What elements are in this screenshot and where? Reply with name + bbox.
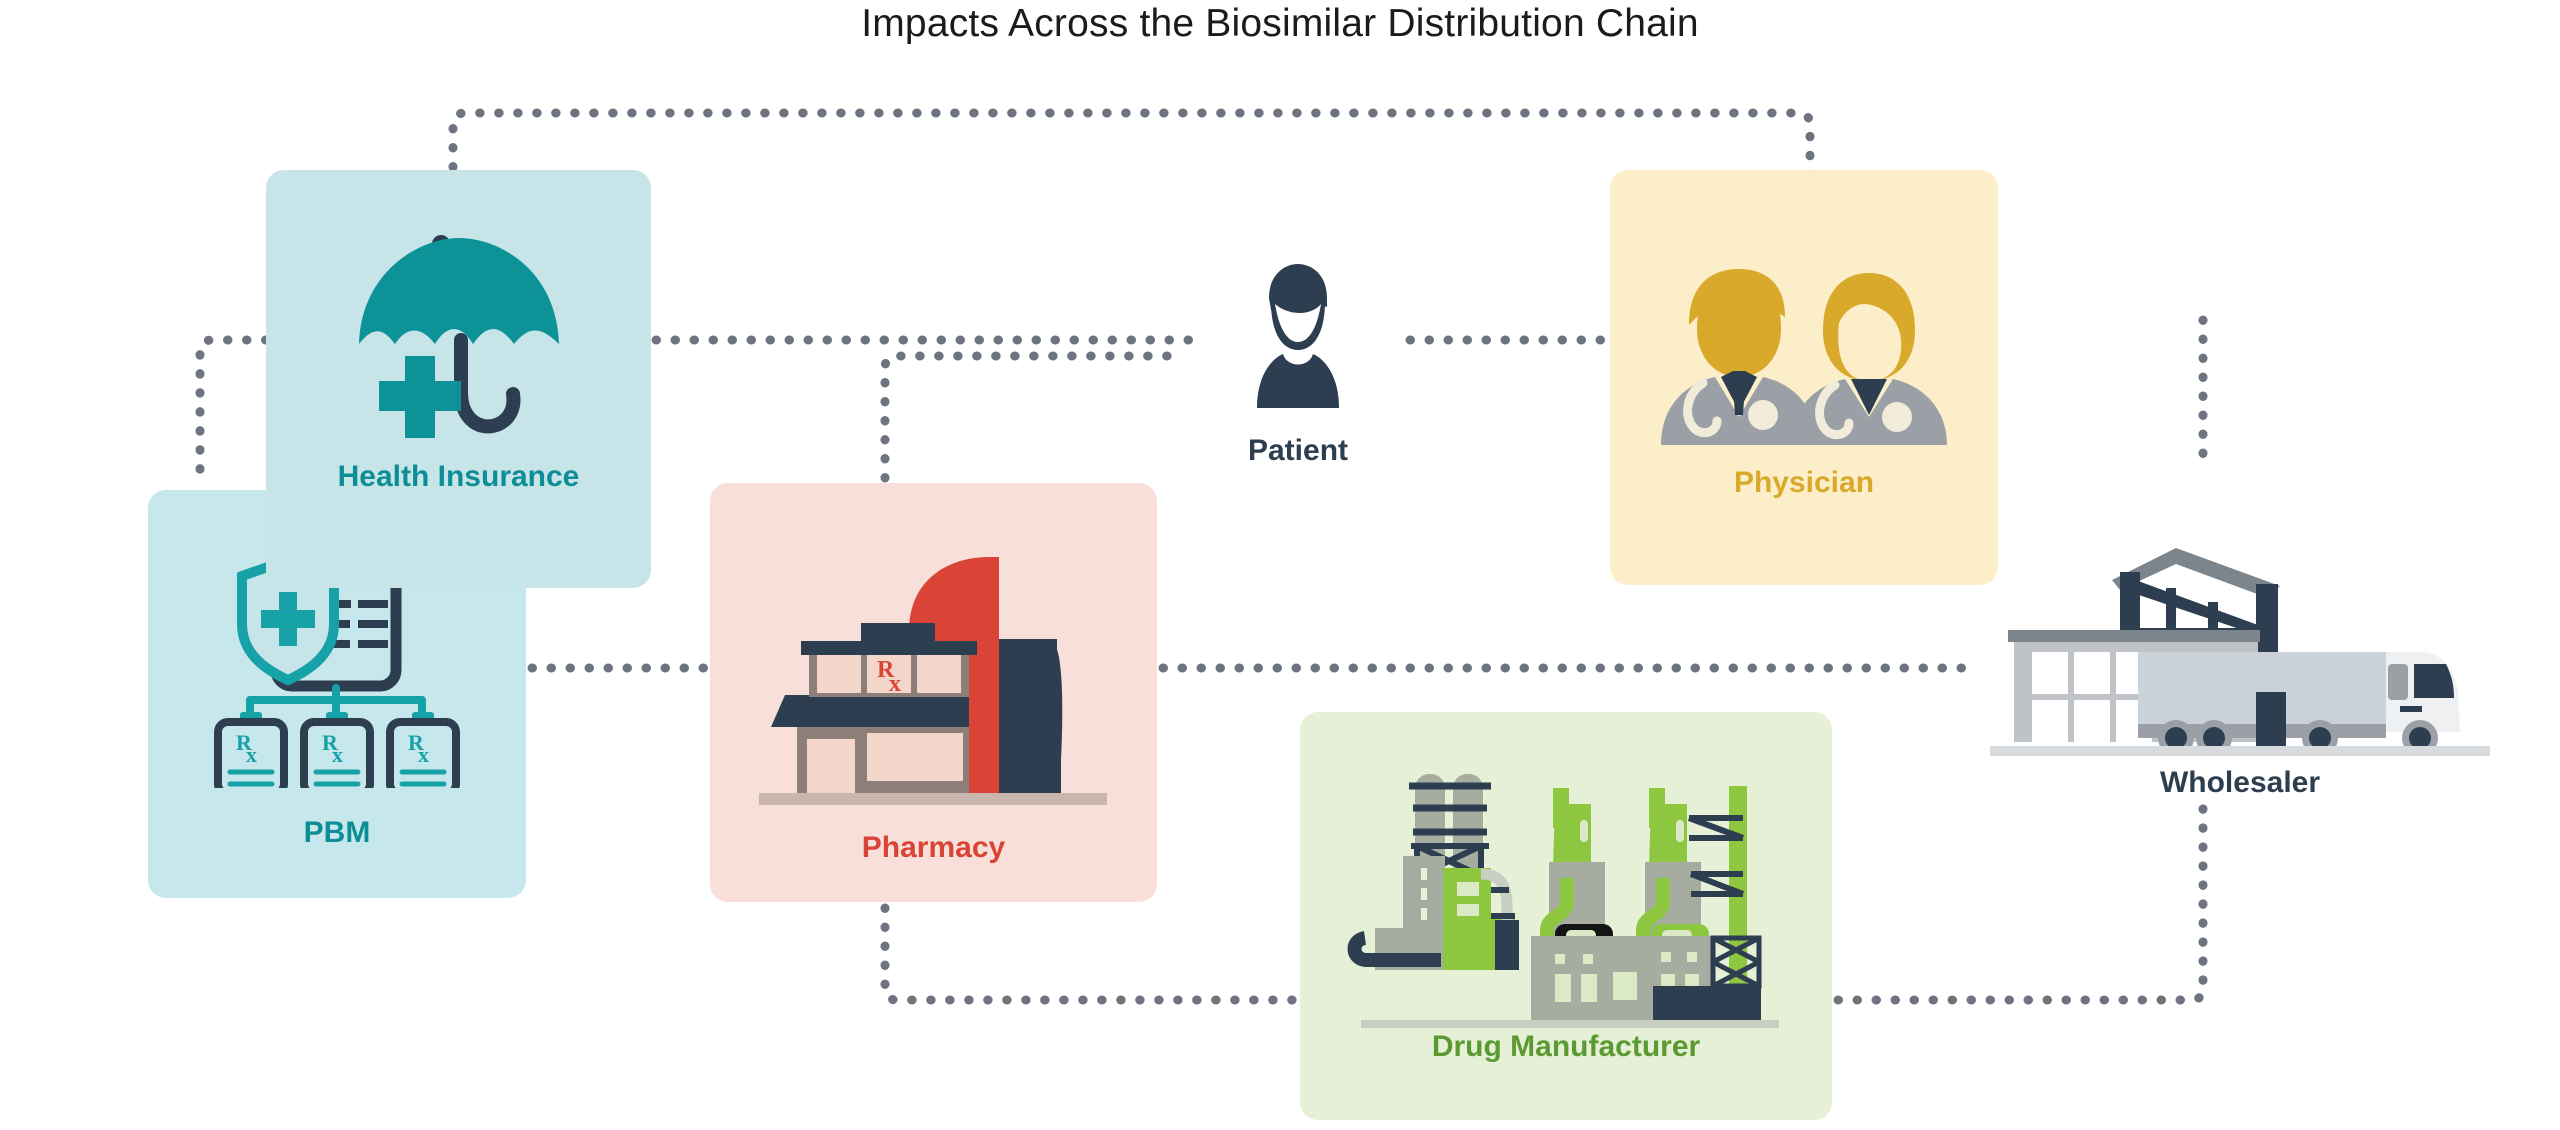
svg-text:x: x bbox=[332, 742, 343, 767]
node-wholesaler[interactable]: Wholesaler bbox=[1970, 542, 2510, 802]
node-label-physician: Physician bbox=[1610, 466, 1998, 500]
connector-drug-manufacturer-wholesaler bbox=[1838, 800, 2203, 1000]
page-title: Impacts Across the Biosimilar Distributi… bbox=[0, 2, 2560, 46]
connector-pharmacy-patient bbox=[885, 356, 1180, 478]
node-drug-manufacturer[interactable]: Drug Manufacturer bbox=[1300, 712, 1832, 1120]
node-label-pharmacy: Pharmacy bbox=[710, 831, 1157, 865]
diagram-canvas: Impacts Across the Biosimilar Distributi… bbox=[0, 0, 2560, 1130]
svg-text:x: x bbox=[889, 671, 901, 697]
svg-text:x: x bbox=[246, 742, 257, 767]
node-label-wholesaler: Wholesaler bbox=[1970, 766, 2510, 800]
factory-plant-icon bbox=[1300, 738, 1832, 1028]
pharmacy-storefront-icon: R x bbox=[710, 543, 1157, 823]
node-label-pbm: PBM bbox=[148, 816, 526, 850]
node-label-patient: Patient bbox=[1178, 434, 1418, 468]
connector-pharmacy-drug-manufacturer bbox=[885, 908, 1295, 1000]
node-patient[interactable]: Patient bbox=[1178, 258, 1418, 468]
connector-health-insurance-physician bbox=[453, 113, 1810, 205]
umbrella-cross-icon bbox=[266, 216, 651, 446]
two-physicians-icon bbox=[1610, 230, 1998, 480]
node-label-health-insurance: Health Insurance bbox=[266, 460, 651, 494]
patient-person-icon bbox=[1178, 258, 1418, 408]
warehouse-truck-icon bbox=[1970, 542, 2510, 758]
connector-health-insurance-pbm bbox=[200, 340, 266, 478]
node-label-drug-manufacturer: Drug Manufacturer bbox=[1300, 1030, 1832, 1064]
node-pharmacy[interactable]: R x Pharmacy bbox=[710, 483, 1157, 902]
node-physician[interactable]: Physician bbox=[1610, 170, 1998, 585]
svg-text:x: x bbox=[418, 742, 429, 767]
node-health-insurance[interactable]: Health Insurance bbox=[266, 170, 651, 588]
